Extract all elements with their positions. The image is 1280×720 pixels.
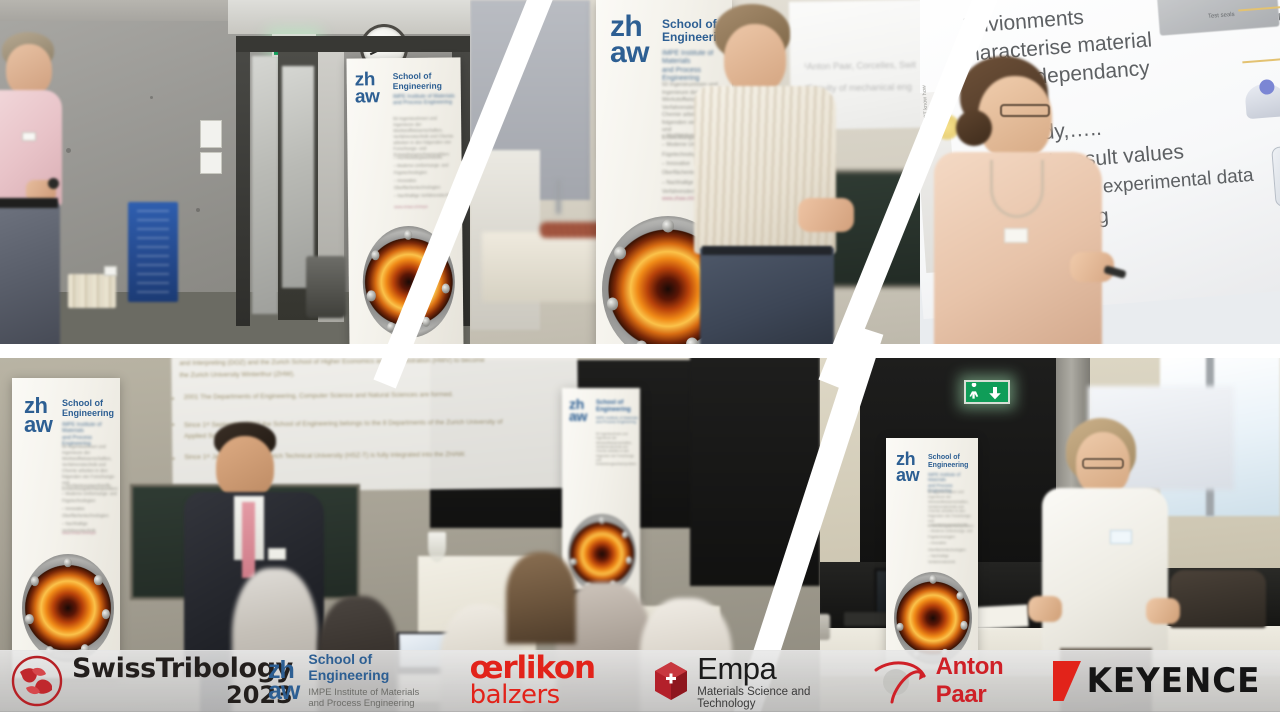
- upper-wall-band: [228, 0, 470, 34]
- zhaw-banner-title-bl2: School of Engineering: [596, 400, 631, 413]
- suit-tie: [242, 502, 255, 578]
- zhaw-text-block: School of Engineering IMPE Institute of …: [308, 652, 419, 709]
- person-presenter-striped-shirt: [686, 0, 886, 348]
- zhaw-rollup-banner-bottom-left-2: zh aw School of Engineering IMPE Institu…: [562, 388, 640, 608]
- balzers-name: balzers: [470, 682, 560, 708]
- zhaw-banner-title-top-left: School of Engineering: [393, 72, 442, 92]
- zhaw-logo-top-middle: zh aw: [610, 14, 649, 67]
- zhaw-subtitle-line2: and Process Engineering: [308, 698, 419, 709]
- zhaw-logo-top-left: zh aw: [355, 72, 380, 106]
- sponsor-empa: Empa Materials Science and Technology: [639, 651, 869, 711]
- slide-diagram-flowbox: [1238, 5, 1280, 63]
- person-belt: [0, 198, 58, 208]
- keyence-wedge-icon: [1053, 661, 1081, 701]
- photo-panel-top-left: zh aw School of Engineering IMPE Institu…: [0, 0, 470, 348]
- door-frame: [236, 36, 250, 326]
- photo-panel-top-middle: ¹Anton Paar, Corcelles, Swit ²Faculty of…: [470, 0, 920, 348]
- swisstribology-name: SwissTribology: [72, 655, 293, 682]
- door-glass-main: [282, 66, 314, 288]
- zhaw-logo-line2: aw: [268, 681, 299, 703]
- sponsor-swisstribology: SwissTribology 2023: [0, 651, 268, 711]
- zhaw-banner-title-bottom-left: School of Engineering: [62, 398, 114, 418]
- furnace-flange-image-bottom-left: [22, 554, 114, 662]
- blue-equipment-box: [128, 202, 178, 302]
- zhaw-subtitle-line1: IMPE Institute of Materials: [308, 687, 419, 698]
- suit-head: [216, 436, 274, 500]
- slide-bl-line-1: and Interpreting (DOZ) and the Zurich Sc…: [179, 357, 484, 367]
- zhaw-banner-bullets-bottom-left: – Hochleistungswerkstoffe – Moderne Umfo…: [62, 482, 118, 535]
- presenter3-badge: [1110, 530, 1132, 544]
- slide-diagram-cylinder-icon: [1271, 145, 1280, 207]
- sponsor-keyence: KEYENCE: [1053, 651, 1280, 711]
- zhaw-banner-bullets-bottom-right: – Hochleistungswerkstoffe – Moderne Umfo…: [928, 522, 976, 565]
- anton-paar-orbit-icon: [870, 656, 930, 706]
- keyence-name: KEYENCE: [1087, 661, 1261, 701]
- slide-bl-bullet-1-marker: •: [172, 396, 175, 403]
- presenter-head: [724, 24, 786, 94]
- photo-collage: zh aw School of Engineering IMPE Institu…: [0, 0, 1280, 720]
- person-trousers: [0, 200, 60, 348]
- zhaw-title-line1: School of: [308, 652, 419, 668]
- person-head: [6, 44, 52, 96]
- zhaw-banner-url-bottom-left: www.zhaw.ch/impe: [62, 530, 96, 535]
- zhaw-banner-url-top-left: www.zhaw.ch/impe: [394, 204, 428, 209]
- door-glass-left: [252, 56, 278, 314]
- presenter-hands: [798, 198, 854, 232]
- presenter2-bun: [956, 110, 992, 146]
- swisstribology-text: SwissTribology 2023: [72, 655, 293, 707]
- zhaw-rollup-banner-top-left: zh aw School of Engineering IMPE Institu…: [346, 57, 463, 348]
- person-presenter-beige-blouse: [938, 56, 1128, 348]
- photo-panel-top-right: Envionments Characterise material Load d…: [920, 0, 1280, 348]
- presenter3-hand-right: [1146, 598, 1180, 624]
- zhaw-banner-subtitle-bl2: IMPE Institute of Materials and Process …: [596, 416, 638, 425]
- suit-badge: [268, 548, 286, 560]
- wine-glass: [428, 532, 446, 562]
- oerlikon-name: œrlikon: [470, 654, 595, 683]
- presenter-belt: [702, 246, 832, 255]
- zhaw-banner-body-top-left: 50 Ingenieurinnen und Ingenieure der Wer…: [393, 115, 457, 157]
- sample-label: [104, 266, 117, 276]
- empa-tagline: Materials Science and Technology: [697, 686, 869, 710]
- presenter2-badge: [1004, 228, 1028, 243]
- zhaw-logo-bottom-right: zh aw: [896, 452, 919, 484]
- exit-sign-icon-bottom-right: [964, 380, 1010, 404]
- zhaw-banner-bullets-top-left: – Hochleistungswerkstoffe – Moderne Umfo…: [393, 153, 459, 199]
- person-speaker-pink-shirt: [0, 28, 104, 348]
- slide-bl-line-2: the Zurich University Winterthur (ZHW).: [179, 371, 294, 379]
- audience-head-6: [506, 552, 576, 644]
- presenter2-necklace: [990, 160, 1044, 218]
- anton-paar-name: Anton Paar: [936, 653, 1053, 709]
- zhaw-logo-banner: zh aw: [268, 660, 299, 703]
- zhaw-logo-bottom-left: zh aw: [24, 396, 52, 435]
- slide-bl-bullet-2-marker: •: [172, 422, 175, 429]
- presenter3-blouse: [1042, 488, 1168, 654]
- furnace-flange-image-top-left: [362, 225, 455, 338]
- desk-control-box: [820, 614, 830, 640]
- sponsor-banner: SwissTribology 2023 zh aw School of Engi…: [0, 650, 1280, 712]
- faucet: [556, 180, 561, 214]
- zhaw-rollup-banner-bottom-left: zh aw School of Engineering IMPE Institu…: [12, 378, 120, 678]
- desk-paper: [969, 604, 1028, 629]
- wristwatch: [48, 178, 59, 189]
- door-sign-2: [200, 152, 222, 174]
- zhaw-title-line2: Engineering: [308, 668, 419, 684]
- presenter3-hand-left: [1028, 596, 1062, 622]
- name-badge: [22, 132, 36, 141]
- sponsor-oerlikon-balzers: œrlikon balzers: [470, 651, 640, 711]
- empa-text: Empa Materials Science and Technology: [697, 653, 869, 710]
- presenter2-glasses-icon: [1000, 104, 1050, 117]
- empa-name: Empa: [697, 653, 869, 684]
- swisstribology-globe-icon: [10, 654, 64, 708]
- zhaw-logo-bl2: zh aw: [569, 398, 587, 423]
- door-header: [236, 36, 470, 52]
- slide-bl-bullet-3-marker: •: [172, 456, 175, 463]
- zhaw-banner-title-bottom-right: School of Engineering: [928, 454, 968, 470]
- door-sign: [200, 120, 222, 148]
- zhaw-banner-subtitle-top-left: IMPE Institute of Materials and Process …: [393, 93, 459, 106]
- sponsor-zhaw: zh aw School of Engineering IMPE Institu…: [268, 651, 470, 711]
- waste-bin: [306, 256, 346, 318]
- dark-back-wall-2: [690, 356, 820, 586]
- zhaw-banner-body-bl2: 50 Ingenieurinnen und Ingenieure der Wer…: [596, 432, 638, 467]
- empa-hex-icon: [653, 661, 689, 701]
- presenter-jeans: [700, 248, 834, 348]
- zhaw-rollup-banner-bottom-right: zh aw School of Engineering IMPE Institu…: [886, 438, 978, 670]
- swisstribology-year: 2023: [72, 683, 293, 707]
- sponsor-anton-paar: Anton Paar: [870, 651, 1053, 711]
- slide-bl-line-3: 2001 The Departments of Engineering, Com…: [184, 391, 454, 401]
- presenter3-glasses-icon: [1082, 458, 1124, 469]
